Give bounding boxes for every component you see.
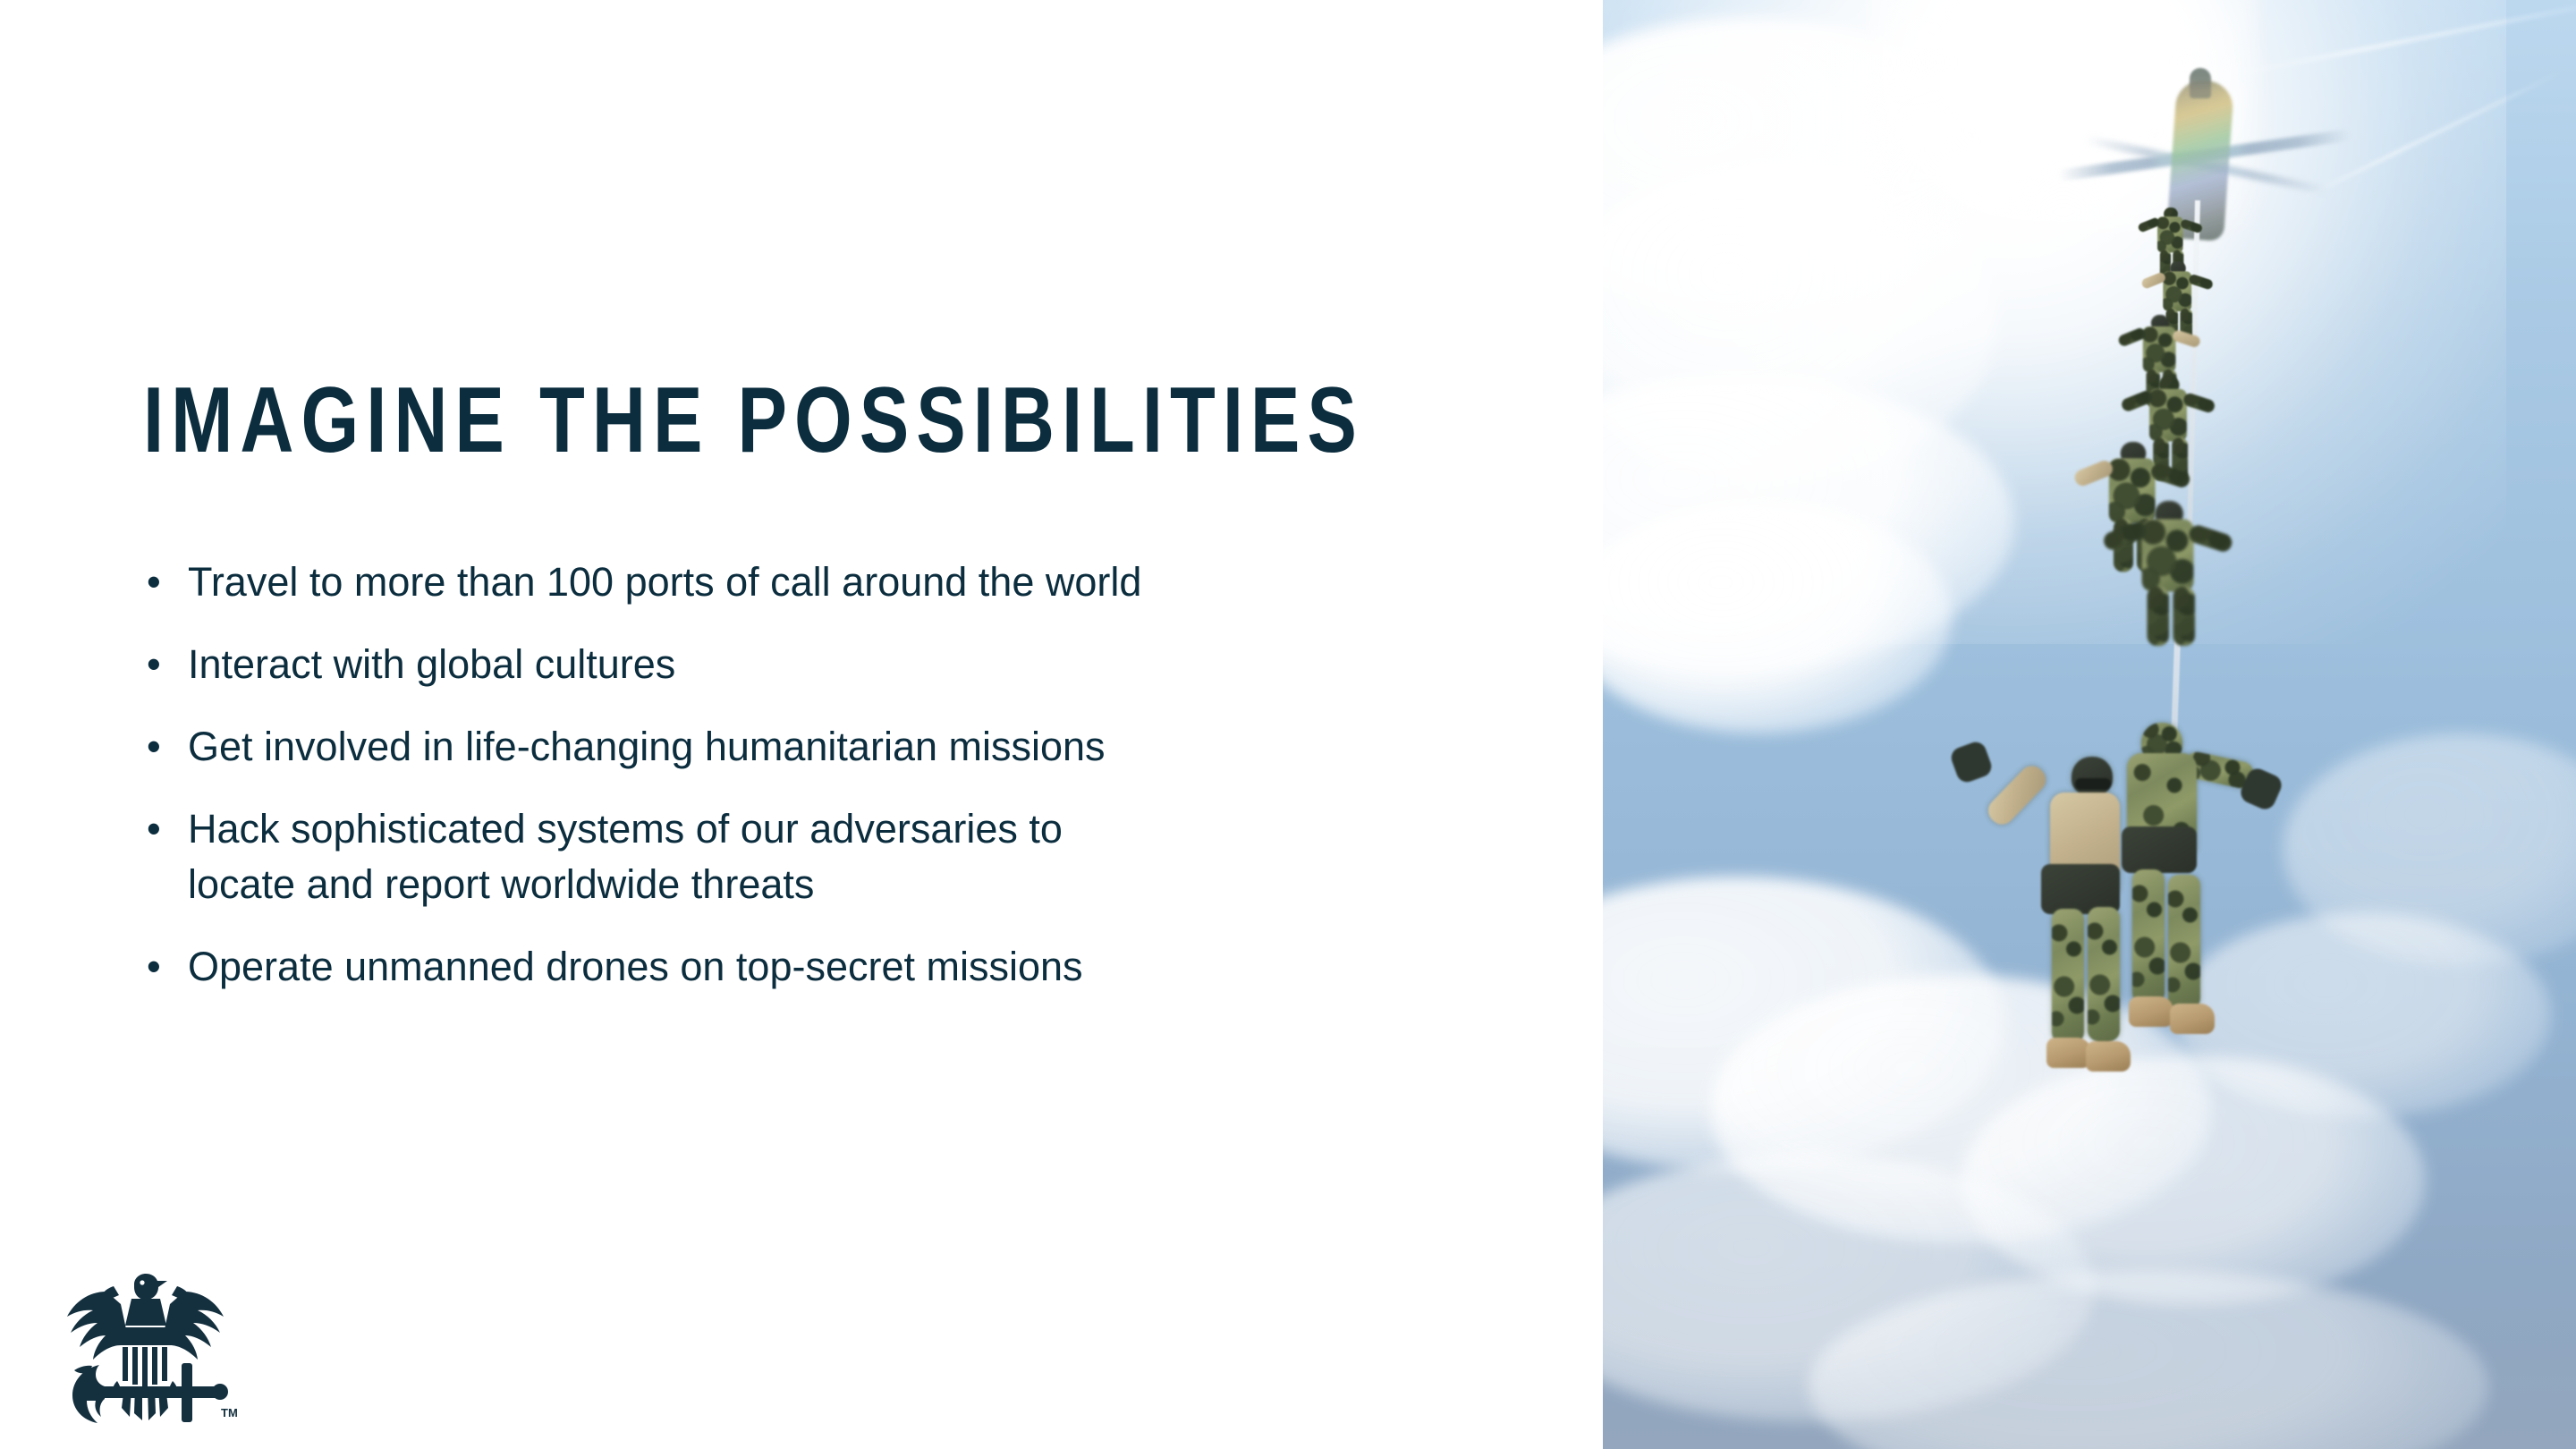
boot xyxy=(2086,1041,2131,1072)
list-item: • Travel to more than 100 ports of call … xyxy=(143,555,1538,610)
bullet-marker: • xyxy=(147,555,170,610)
boot xyxy=(2170,1004,2215,1034)
content-pane: IMAGINE THE POSSIBILITIES • Travel to mo… xyxy=(0,0,1603,1449)
list-item-label: Hack sophisticated systems of our advers… xyxy=(188,801,1136,912)
boot xyxy=(2129,996,2173,1027)
bullet-marker: • xyxy=(147,637,170,692)
page-title: IMAGINE THE POSSIBILITIES xyxy=(143,374,1364,467)
bullet-marker: • xyxy=(147,719,170,775)
hero-photo xyxy=(1603,0,2576,1449)
presentation-slide: IMAGINE THE POSSIBILITIES • Travel to mo… xyxy=(0,0,2576,1449)
list-item: • Operate unmanned drones on top-secret … xyxy=(143,939,1538,995)
bullet-marker: • xyxy=(147,939,170,995)
list-item-label: Operate unmanned drones on top-secret mi… xyxy=(188,939,1538,995)
bullet-list: • Travel to more than 100 ports of call … xyxy=(143,555,1538,995)
list-item-label: Travel to more than 100 ports of call ar… xyxy=(188,555,1538,610)
list-item-label: Get involved in life-changing humanitari… xyxy=(188,719,1538,775)
list-item: • Interact with global cultures xyxy=(143,637,1538,692)
list-item-label: Interact with global cultures xyxy=(188,637,1538,692)
helicopter-icon xyxy=(2057,64,2352,261)
boot xyxy=(2046,1038,2091,1068)
navy-eagle-anchor-logo-icon: TM xyxy=(49,1259,241,1429)
list-item: • Get involved in life-changing humanita… xyxy=(143,719,1538,775)
list-item: • Hack sophisticated systems of our adve… xyxy=(143,801,1538,912)
bullet-marker: • xyxy=(147,801,170,857)
trademark-label: TM xyxy=(221,1406,238,1419)
sunglasses xyxy=(2075,778,2111,790)
